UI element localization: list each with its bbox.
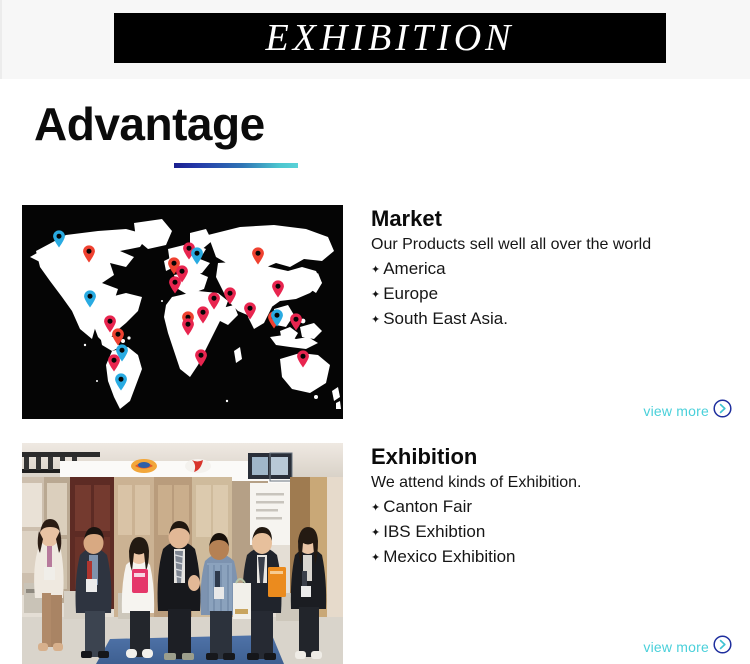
heading-accent-rule bbox=[174, 163, 298, 168]
map-pin-cyan bbox=[53, 230, 66, 248]
exhibition-lead-text: We attend kinds of Exhibition. bbox=[371, 473, 731, 494]
page-title: Advantage bbox=[34, 100, 334, 148]
map-pin-orange bbox=[83, 245, 96, 263]
map-pin-pink bbox=[195, 349, 208, 367]
world-map-canvas bbox=[22, 205, 343, 419]
list-item-label: IBS Exhibtion bbox=[383, 520, 485, 545]
view-more-link-market[interactable]: view more bbox=[643, 399, 732, 423]
diamond-bullet-icon: ✦ bbox=[371, 528, 380, 539]
diamond-bullet-icon: ✦ bbox=[371, 265, 380, 276]
diamond-bullet-icon: ✦ bbox=[371, 503, 380, 514]
diamond-bullet-icon: ✦ bbox=[371, 553, 380, 564]
list-item: ✦ IBS Exhibtion bbox=[371, 520, 731, 545]
list-item: ✦ Mexico Exhibition bbox=[371, 545, 731, 570]
map-pin-cyan bbox=[115, 373, 128, 391]
map-pin-pink bbox=[224, 287, 237, 305]
map-pin-cyan bbox=[271, 309, 284, 327]
exhibition-bullet-list: ✦ Canton Fair ✦ IBS Exhibtion ✦ Mexico E… bbox=[371, 495, 731, 570]
map-pin-orange bbox=[252, 247, 265, 265]
list-item-label: America bbox=[383, 257, 445, 282]
market-title: Market bbox=[371, 205, 731, 233]
list-item-label: Europe bbox=[383, 282, 438, 307]
map-pin-pink bbox=[182, 318, 195, 336]
list-item: ✦ South East Asia. bbox=[371, 307, 731, 332]
banner-title: EXHIBITION bbox=[266, 19, 515, 57]
map-pin-pink bbox=[272, 280, 285, 298]
view-more-label: view more bbox=[643, 640, 709, 654]
view-more-link-exhibition[interactable]: view more bbox=[643, 635, 732, 659]
map-pin-pink bbox=[297, 350, 310, 368]
view-more-label: view more bbox=[643, 404, 709, 418]
exhibition-banner-plate: EXHIBITION bbox=[114, 13, 666, 63]
list-item: ✦ Europe bbox=[371, 282, 731, 307]
section-heading: Advantage bbox=[34, 100, 334, 148]
world-map-image bbox=[22, 205, 343, 419]
market-lead-text: Our Products sell well all over the worl… bbox=[371, 235, 731, 256]
exhibition-photo bbox=[22, 443, 343, 664]
map-pin-cyan bbox=[191, 247, 204, 265]
map-pin-pink bbox=[290, 313, 303, 331]
list-item-label: Mexico Exhibition bbox=[383, 545, 515, 570]
map-pin-cyan bbox=[84, 290, 97, 308]
map-pin-pink bbox=[244, 302, 257, 320]
exhibition-title: Exhibition bbox=[371, 443, 731, 471]
list-item-label: South East Asia. bbox=[383, 307, 508, 332]
map-pin-pink bbox=[176, 265, 189, 283]
market-bullet-list: ✦ America ✦ Europe ✦ South East Asia. bbox=[371, 257, 731, 332]
exhibition-copy-block: Exhibition We attend kinds of Exhibition… bbox=[371, 443, 731, 570]
list-item: ✦ Canton Fair bbox=[371, 495, 731, 520]
market-copy-block: Market Our Products sell well all over t… bbox=[371, 205, 731, 332]
diamond-bullet-icon: ✦ bbox=[371, 290, 380, 301]
chevron-right-circle-icon bbox=[713, 635, 732, 659]
map-pin-pink bbox=[108, 354, 121, 372]
exhibition-photo-canvas bbox=[22, 443, 343, 664]
map-pin-pink bbox=[208, 292, 221, 310]
chevron-right-circle-icon bbox=[713, 399, 732, 423]
booth-photo-illustration bbox=[22, 443, 343, 664]
diamond-bullet-icon: ✦ bbox=[371, 315, 380, 326]
list-item: ✦ America bbox=[371, 257, 731, 282]
banner-band: EXHIBITION bbox=[0, 0, 750, 79]
list-item-label: Canton Fair bbox=[383, 495, 472, 520]
